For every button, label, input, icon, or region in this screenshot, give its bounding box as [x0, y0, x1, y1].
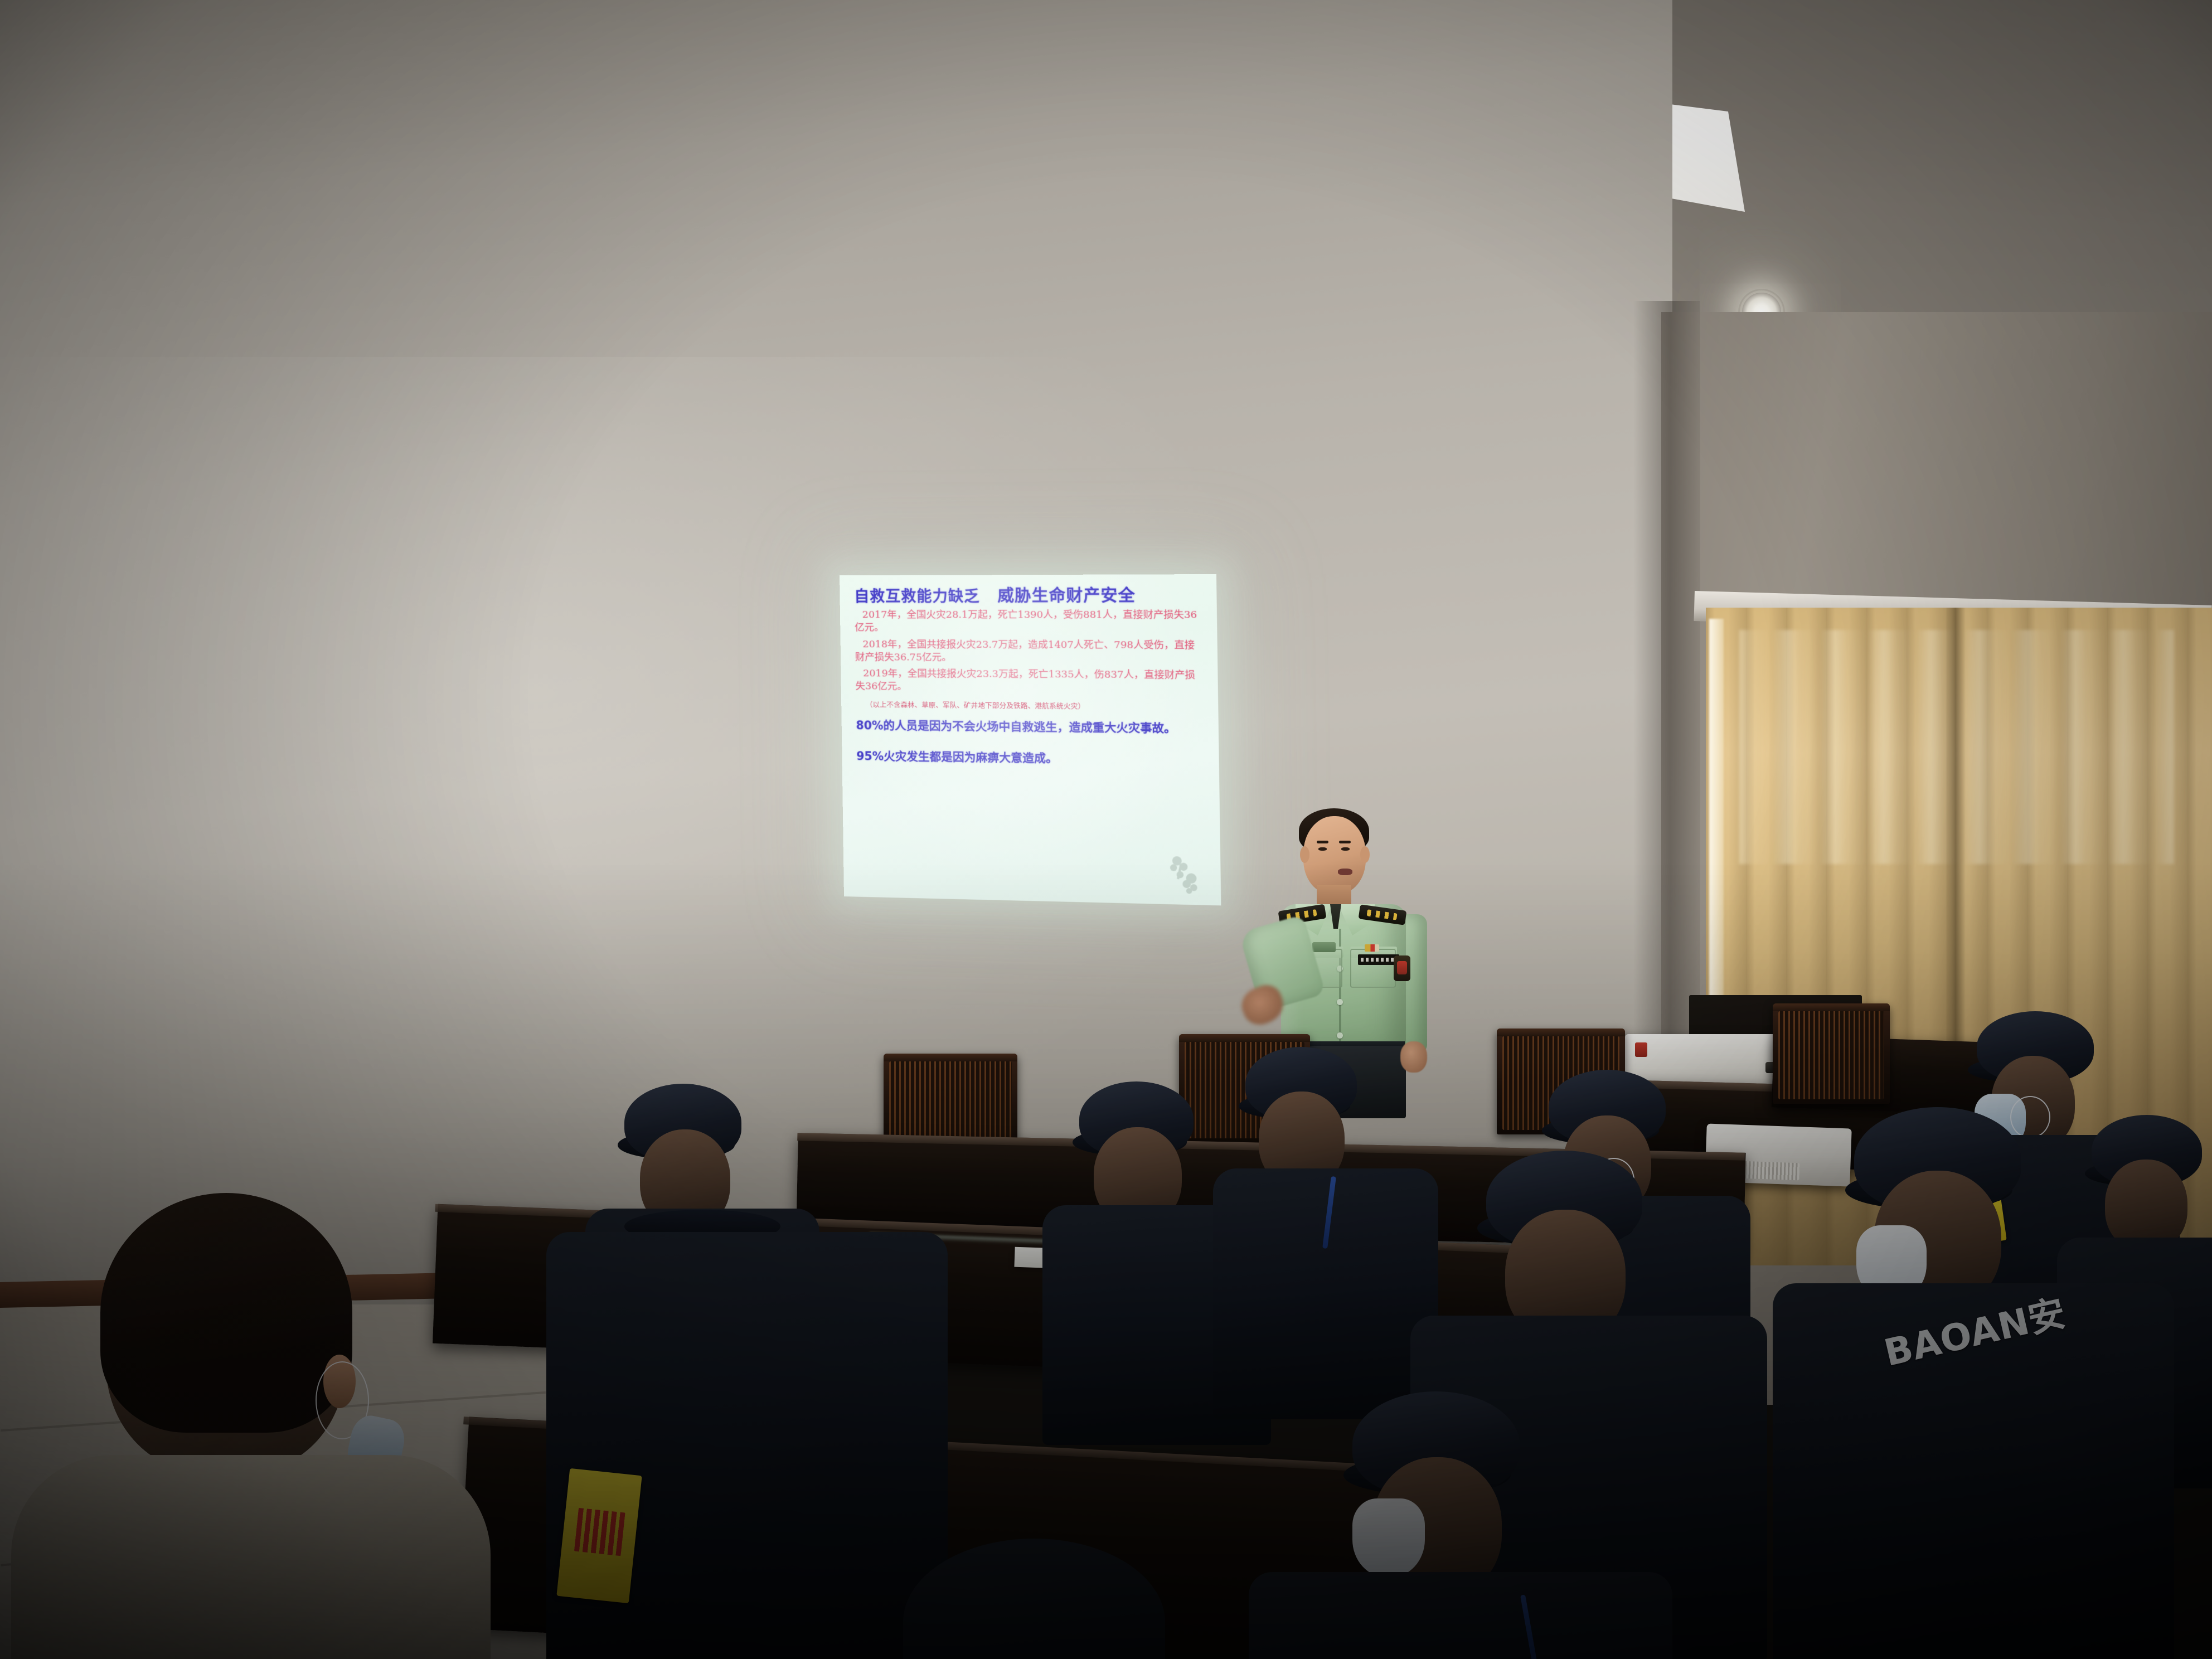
- guard-lf-armband: [556, 1468, 642, 1603]
- conference-room-photo: 自救互救能力缺乏 威胁生命财产安全 2017年，全国火灾28.1万起，死亡139…: [0, 0, 2212, 1659]
- slide-title: 自救互救能力缺乏 威胁生命财产安全: [854, 587, 1201, 605]
- presenter-name-badge: [1358, 954, 1399, 965]
- slide-title-part2: 威胁生命财产安全: [997, 586, 1136, 605]
- attendee-front-partial: [870, 1516, 1215, 1659]
- presenter-head: [1303, 816, 1366, 894]
- presenter-ear-left: [1300, 846, 1309, 863]
- presenter-shoulder-patch: [1394, 955, 1410, 981]
- civilian-hair: [100, 1193, 352, 1433]
- presenter-ear-right: [1360, 846, 1370, 863]
- presenter-eye-left: [1318, 847, 1327, 851]
- presenter-brow-left: [1317, 841, 1328, 843]
- presenter-brow-right: [1339, 841, 1351, 843]
- slide-stat-2019: 2019年，全国共接报火灾23.3万起，死亡1335人，伤837人，直接财产损失…: [855, 667, 1202, 695]
- attendee-front-civilian: [45, 1187, 502, 1659]
- slide-highlight-95: 95%火灾发生都是因为麻痹大意造成。: [856, 749, 1204, 768]
- slide-watermark-icon: [1164, 852, 1206, 896]
- presenter-eye-right: [1341, 847, 1350, 851]
- presenter-ribbon-bar: [1365, 944, 1379, 952]
- slide-stat-2018: 2018年，全国共接报火灾23.7万起，造成1407人死亡、798人受伤，直接财…: [855, 638, 1202, 665]
- presenter-mouth: [1338, 869, 1352, 875]
- attendee-guard-9: [1271, 1371, 1650, 1659]
- guard-9-mask: [1352, 1498, 1425, 1578]
- guard-9-body: [1249, 1572, 1672, 1659]
- front-partial-head: [903, 1539, 1165, 1659]
- civilian-shirt: [11, 1455, 491, 1659]
- slide-title-part1: 自救互救能力缺乏: [854, 588, 980, 605]
- slide-footnote: （以上不含森林、草原、军队、矿井地下部分及铁路、港航系统火灾）: [856, 700, 1203, 712]
- slide-highlight-80: 80%的人员是因为不会火场中自救逃生，造成重大火灾事故。: [856, 719, 1203, 736]
- projected-slide: 自救互救能力缺乏 威胁生命财产安全 2017年，全国火灾28.1万起，死亡139…: [840, 574, 1221, 905]
- presenter-button-2: [1337, 999, 1343, 1005]
- presenter-chest-patch: [1312, 942, 1336, 952]
- slide-stat-2017: 2017年，全国火灾28.1万起，死亡1390人，受伤881人，直接财产损失36…: [855, 609, 1202, 635]
- attendee-guard-6: BAOAN安: [1773, 1087, 2174, 1659]
